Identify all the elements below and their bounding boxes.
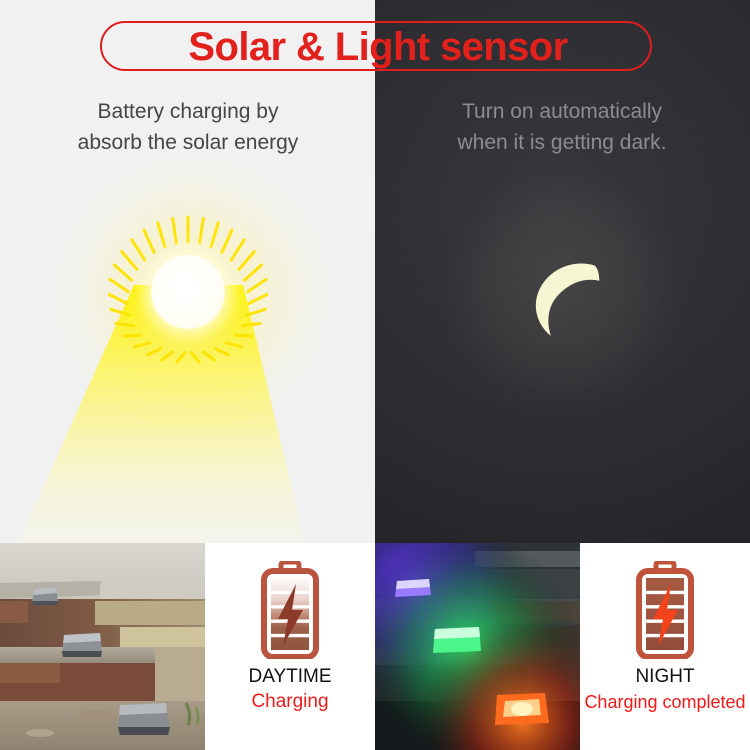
daytime-label: DAYTIME bbox=[205, 665, 375, 689]
daytime-info-panel: DAYTIME Charging bbox=[205, 543, 375, 750]
moon-illustration bbox=[375, 0, 750, 543]
night-status: Charging completed bbox=[580, 689, 750, 715]
battery-half-charging-icon bbox=[258, 561, 322, 659]
daylight-caption: Battery charging by absorb the solar ene… bbox=[22, 96, 354, 158]
night-caption: Turn on automatically when it is getting… bbox=[396, 96, 728, 158]
daytime-photo bbox=[0, 543, 205, 750]
crescent-moon-icon bbox=[515, 248, 609, 342]
sun-disc-icon bbox=[151, 255, 225, 329]
night-info-panel: NIGHT Charging completed bbox=[580, 543, 750, 750]
night-labels: NIGHT Charging completed bbox=[580, 665, 750, 715]
night-label: NIGHT bbox=[580, 665, 750, 689]
page-title: Solar & Light sensor bbox=[102, 23, 654, 73]
daytime-photo-art bbox=[0, 543, 205, 750]
title-badge: Solar & Light sensor bbox=[100, 21, 652, 71]
product-feature-graphic: Solar & Light sensor Battery charging by… bbox=[0, 0, 750, 750]
bottom-comparison-strip: DAYTIME Charging bbox=[0, 543, 750, 750]
sun-illustration bbox=[0, 0, 375, 543]
daytime-status: Charging bbox=[205, 689, 375, 715]
daytime-labels: DAYTIME Charging bbox=[205, 665, 375, 715]
hero-split-panel: Solar & Light sensor Battery charging by… bbox=[0, 0, 750, 543]
battery-full-charging-icon bbox=[633, 561, 697, 659]
night-photo-art bbox=[375, 543, 580, 750]
night-photo bbox=[375, 543, 580, 750]
